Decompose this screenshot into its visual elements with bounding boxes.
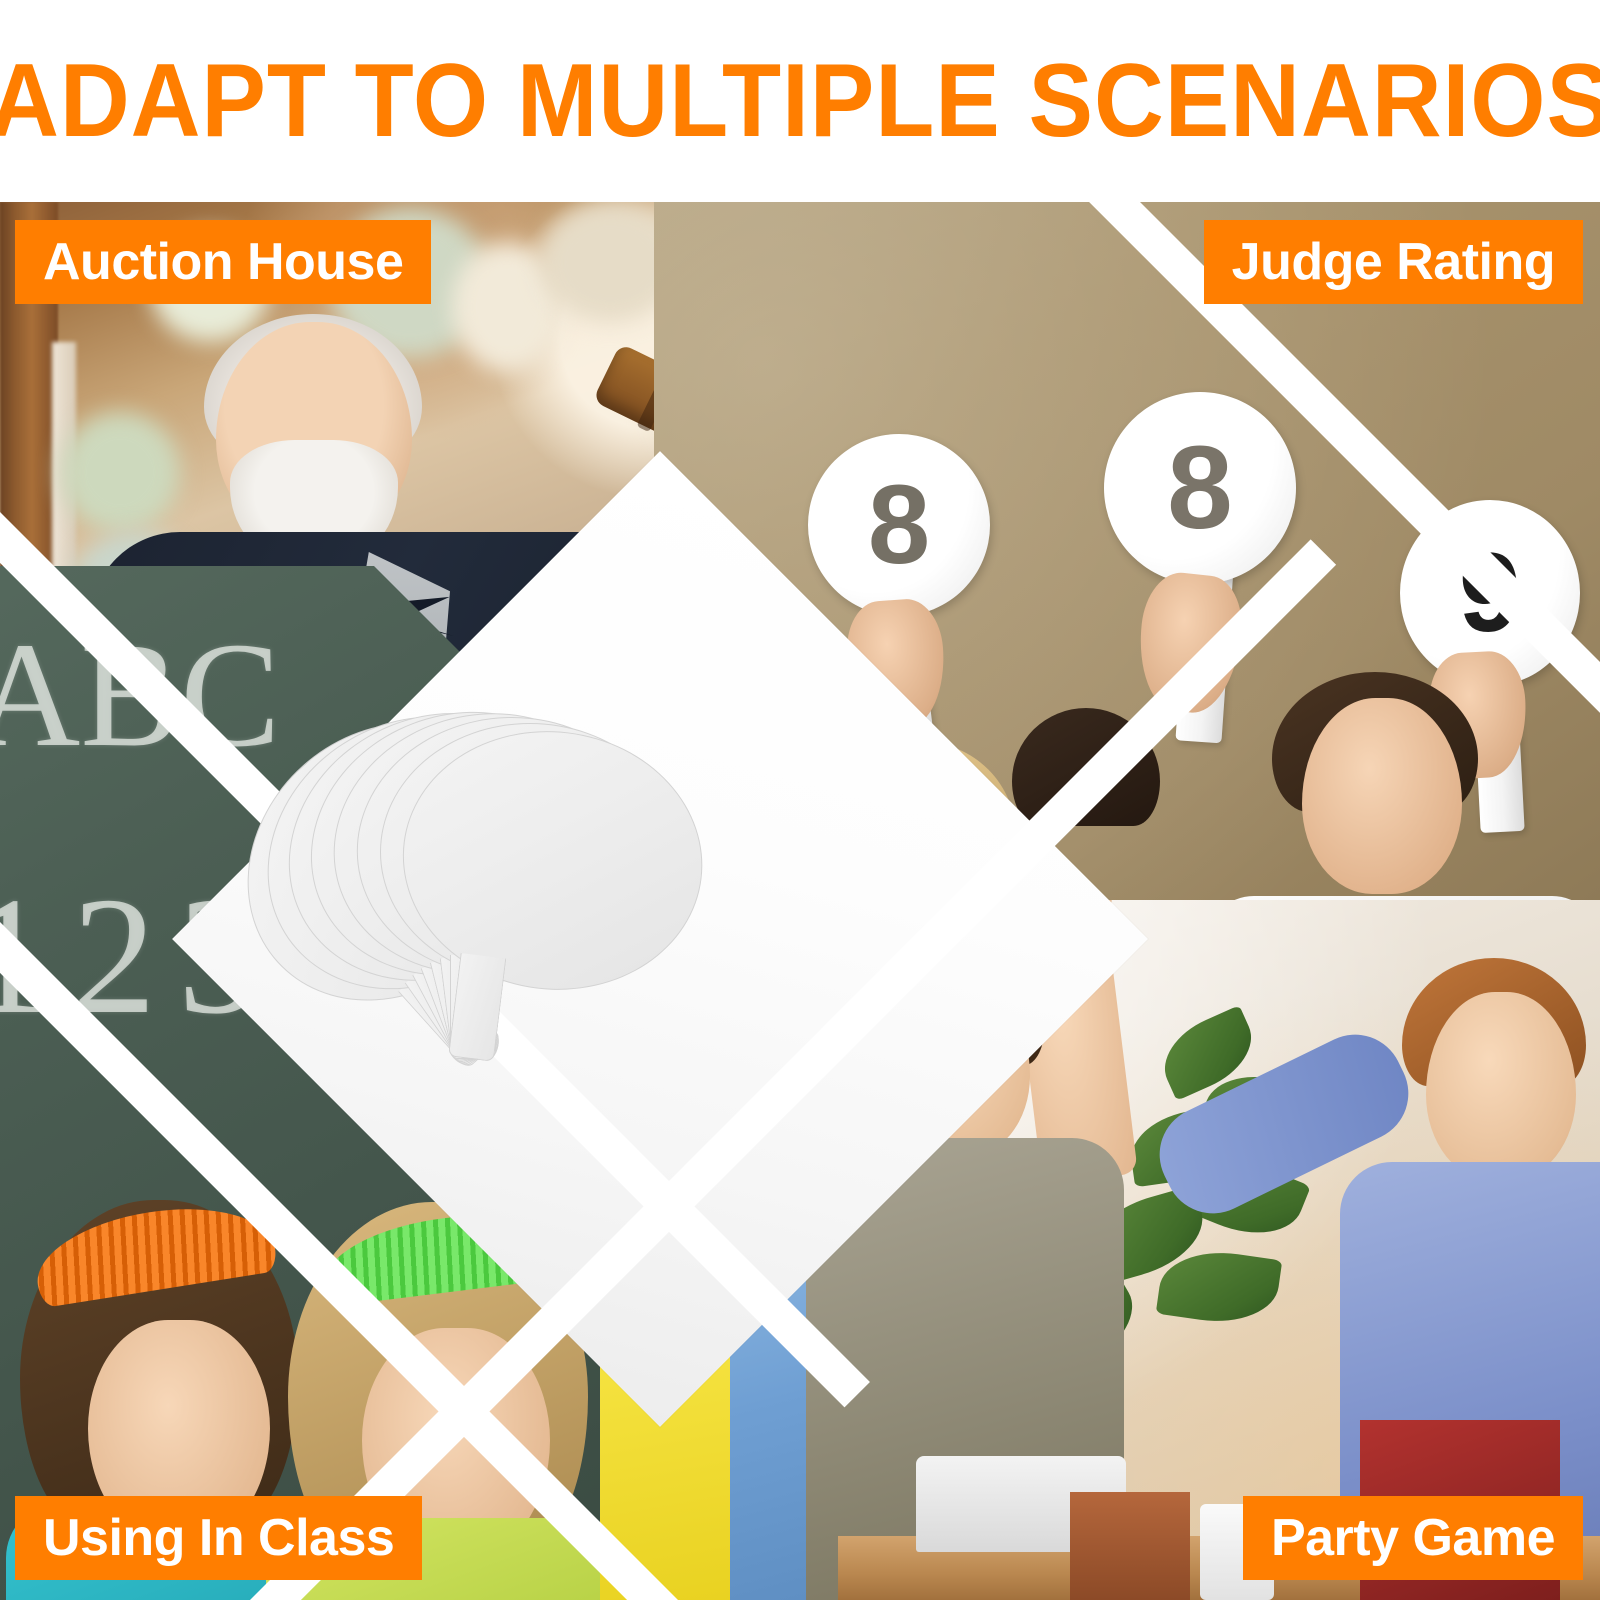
marketing-banner: ADAPT TO MULTIPLE SCENARIOS bbox=[0, 0, 1600, 1600]
label-judge-rating: Judge Rating bbox=[1204, 220, 1583, 304]
label-using-in-class: Using In Class bbox=[15, 1496, 422, 1580]
header-bar: ADAPT TO MULTIPLE SCENARIOS bbox=[0, 0, 1600, 202]
face bbox=[1426, 992, 1576, 1182]
label-party-game: Party Game bbox=[1243, 1496, 1583, 1580]
paddle-disc: 8 bbox=[1104, 392, 1296, 584]
face bbox=[1302, 698, 1462, 894]
paper-bag bbox=[1070, 1492, 1190, 1600]
paddle-fan-stack bbox=[380, 723, 940, 1153]
scenario-collage: 8 8 9 bbox=[0, 202, 1600, 1600]
label-text: Auction House bbox=[43, 236, 403, 288]
paddle-score-value: 8 bbox=[1167, 429, 1233, 547]
page-title: ADAPT TO MULTIPLE SCENARIOS bbox=[0, 49, 1600, 153]
label-text: Using In Class bbox=[43, 1512, 394, 1564]
paddle-disc bbox=[388, 714, 717, 1007]
label-text: Judge Rating bbox=[1232, 236, 1555, 288]
paddle-card bbox=[378, 714, 746, 1088]
label-text: Party Game bbox=[1271, 1512, 1555, 1564]
paddle-disc: 8 bbox=[808, 434, 990, 616]
label-auction-house: Auction House bbox=[15, 220, 431, 304]
paddle-handle bbox=[448, 953, 506, 1062]
shelf-bokeh bbox=[60, 412, 180, 532]
product-photo bbox=[352, 630, 968, 1246]
paddle-score-value: 8 bbox=[868, 469, 930, 581]
